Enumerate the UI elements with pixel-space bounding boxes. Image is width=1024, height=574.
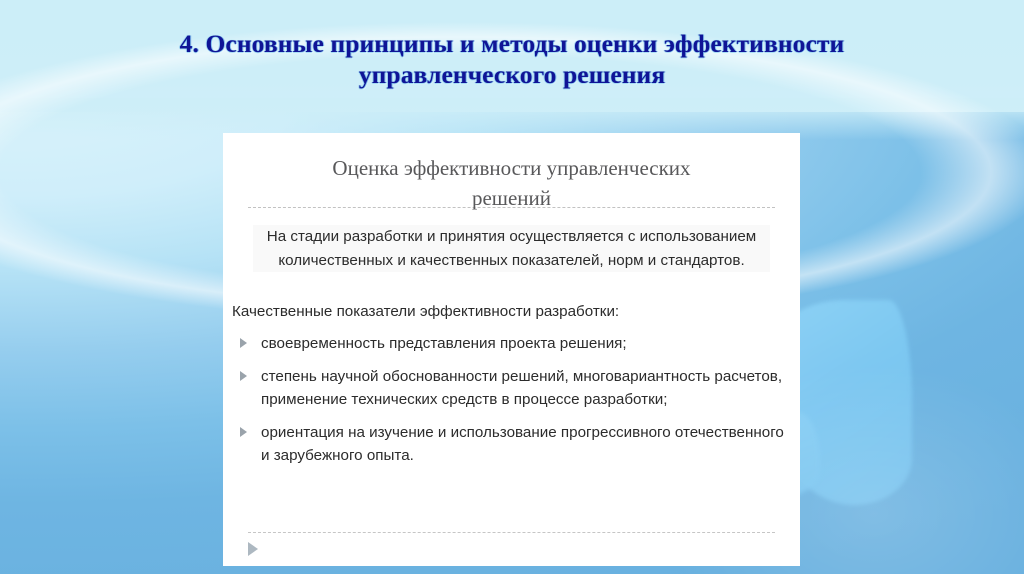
triangle-right-icon-trailing: [248, 542, 258, 556]
list-item-label: степень научной обоснованности решений, …: [261, 365, 792, 412]
list-item-label: ориентация на изучение и использование п…: [261, 421, 792, 468]
bottom-divider: [248, 532, 775, 533]
list-item: своевременность представления проекта ре…: [232, 332, 792, 356]
content-panel-inner: Оценка эффективности управленческих реше…: [223, 133, 800, 566]
intro-paragraph: На стадии разработки и принятия осуществ…: [253, 225, 770, 272]
list-item: степень научной обоснованности решений, …: [232, 365, 792, 412]
list-item: ориентация на изучение и использование п…: [232, 421, 792, 468]
triangle-right-icon: [240, 338, 247, 348]
lead-in-text: Качественные показатели эффективности ра…: [232, 300, 792, 324]
bullet-list: своевременность представления проекта ре…: [232, 332, 792, 477]
list-item-label: своевременность представления проекта ре…: [261, 332, 792, 356]
panel-heading: Оценка эффективности управленческих реше…: [249, 153, 774, 213]
triangle-right-icon: [240, 427, 247, 437]
slide-title: 4. Основные принципы и методы оценки эфф…: [0, 28, 1024, 90]
content-panel: Оценка эффективности управленческих реше…: [223, 133, 800, 566]
triangle-right-icon: [240, 371, 247, 381]
slide-canvas: 4. Основные принципы и методы оценки эфф…: [0, 0, 1024, 574]
